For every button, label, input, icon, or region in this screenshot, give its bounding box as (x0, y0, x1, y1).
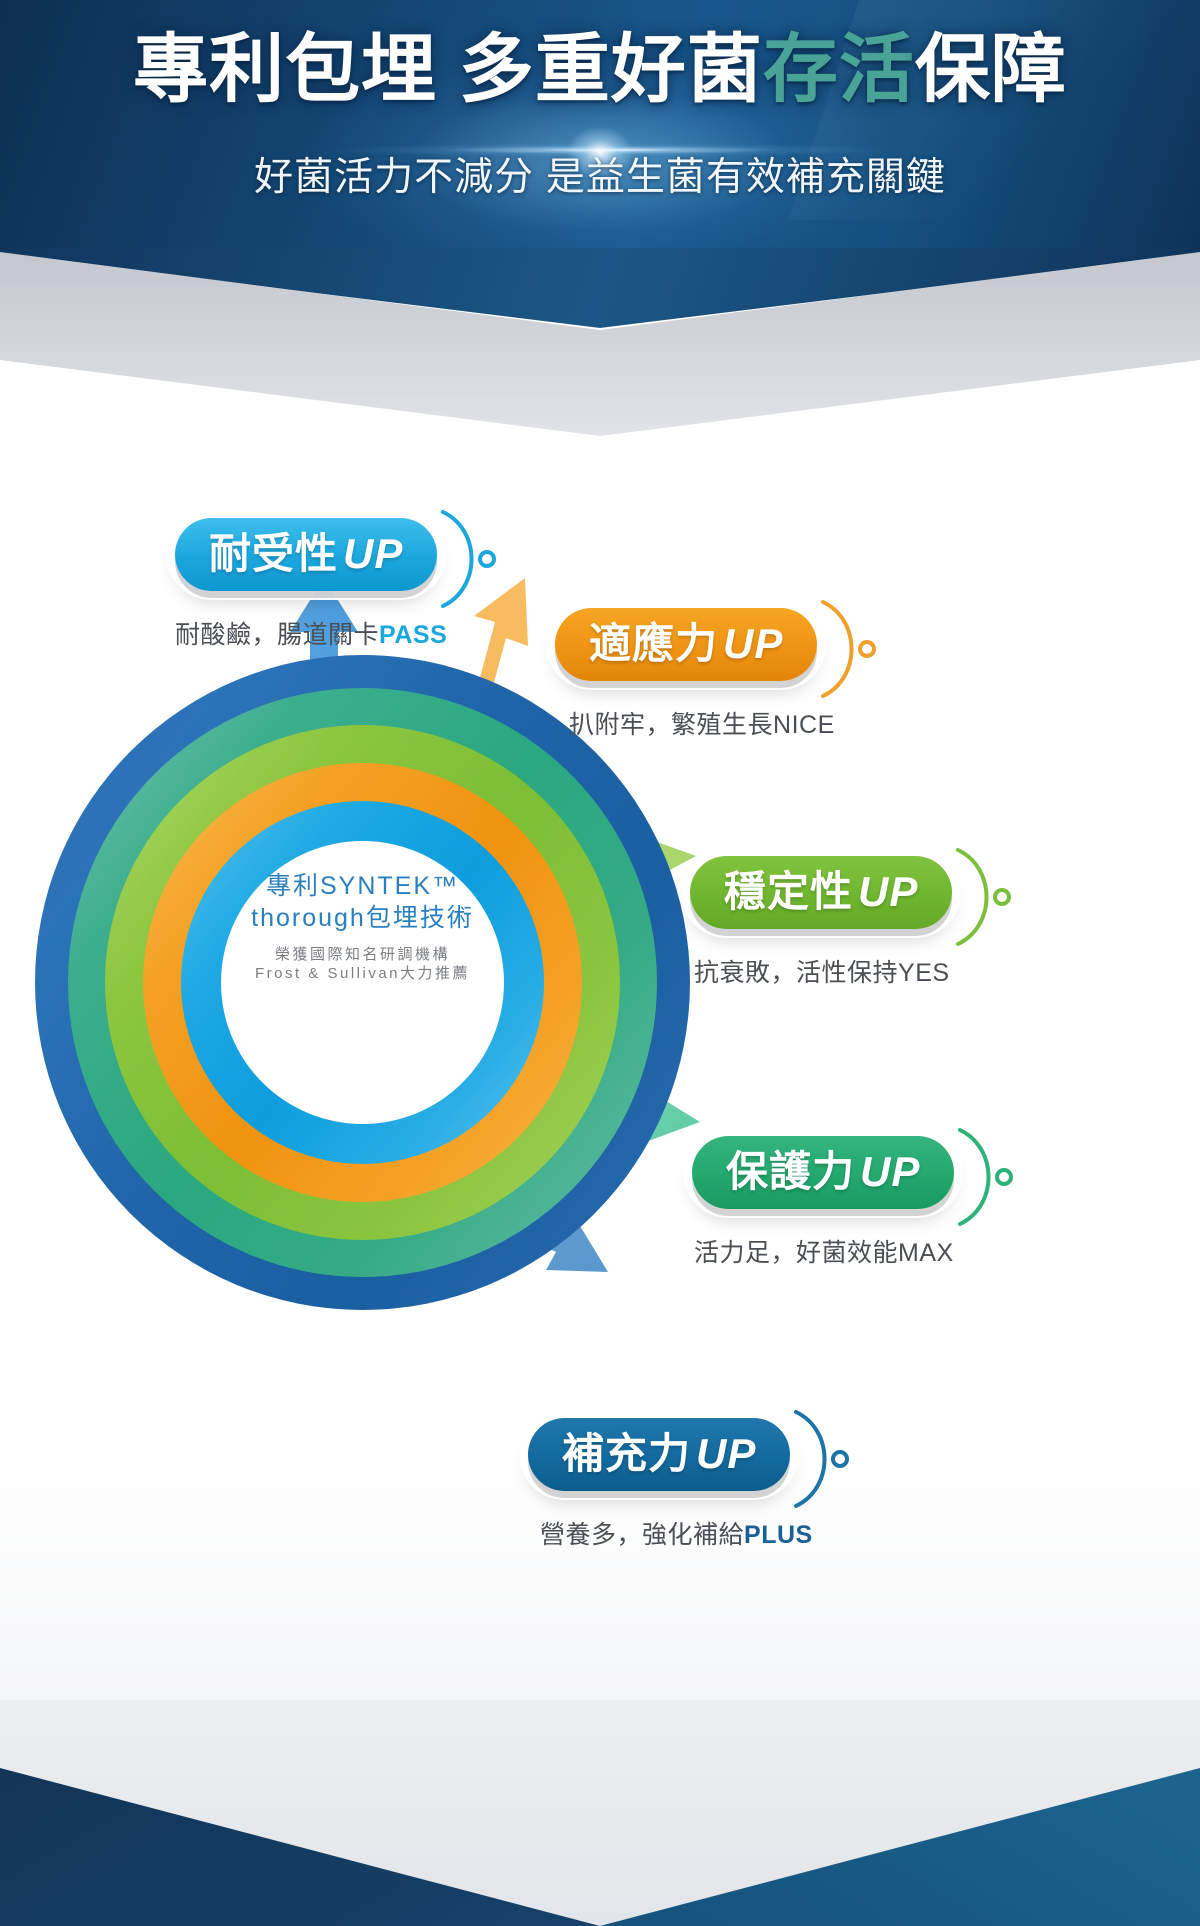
footer-chevron (0, 1700, 1200, 1926)
caption-adaptability: 扒附牢，繁殖生長NICE (569, 705, 835, 741)
badge-stability[interactable]: 穩定性UP (690, 856, 952, 929)
caption-protection: 活力足，好菌效能MAX (694, 1233, 954, 1269)
badge-protection-label: 保護力 (726, 1148, 855, 1195)
caption-protection-text: 活力足，好菌效能 (694, 1239, 898, 1267)
badge-tolerance-label: 耐受性 (209, 530, 338, 577)
hook-bracket-supplement (790, 1404, 860, 1514)
badge-supplement-label: 補充力 (562, 1430, 691, 1477)
badge-adaptability-up: UP (718, 620, 783, 667)
page-title: 專利包埋 多重好菌存活保障 (0, 32, 1200, 107)
benefit-protection[interactable]: 保護力UP 活力足，好菌效能MAX (692, 1136, 954, 1269)
hook-bracket-protection (954, 1122, 1024, 1232)
badge-supplement[interactable]: 補充力UP (528, 1418, 790, 1491)
center-line-2: thorough包埋技術 (221, 902, 504, 934)
footer-chevron-left (0, 1700, 600, 1926)
badge-protection[interactable]: 保護力UP (692, 1136, 954, 1209)
benefit-stability[interactable]: 穩定性UP 抗衰敗，活性保持YES (690, 856, 952, 989)
caption-adaptability-highlight: NICE (773, 711, 835, 739)
badge-adaptability[interactable]: 適應力UP (555, 608, 817, 681)
center-label-block: 專利SYNTEK™ thorough包埋技術 榮獲國際知名研調機構 Frost … (221, 870, 504, 983)
page-subtitle: 好菌活力不減分 是益生菌有效補充關鍵 (0, 146, 1200, 202)
benefit-tolerance[interactable]: 耐受性UP 耐酸鹼，腸道關卡PASS (175, 518, 447, 651)
title-segment-3: 保障 (915, 27, 1067, 111)
footer-chevron-right (600, 1700, 1200, 1926)
caption-adaptability-text: 扒附牢，繁殖生長 (569, 711, 773, 739)
benefit-adaptability[interactable]: 適應力UP 扒附牢，繁殖生長NICE (555, 608, 835, 741)
center-line-4: Frost & Sullivan大力推薦 (221, 964, 504, 983)
badge-tolerance[interactable]: 耐受性UP (175, 518, 437, 591)
hook-bracket-tolerance (437, 504, 507, 614)
title-segment-accent: 存活 (763, 27, 915, 111)
caption-tolerance-text: 耐酸鹼，腸道關卡 (175, 621, 379, 649)
badge-stability-label: 穩定性 (724, 868, 853, 915)
badge-adaptability-label: 適應力 (589, 620, 718, 667)
caption-tolerance-highlight: PASS (379, 621, 447, 649)
caption-stability: 抗衰敗，活性保持YES (694, 953, 952, 989)
caption-tolerance: 耐酸鹼，腸道關卡PASS (175, 615, 447, 651)
caption-protection-highlight: MAX (898, 1239, 954, 1267)
caption-stability-text: 抗衰敗，活性保持 (694, 959, 898, 987)
caption-supplement-text: 營養多，強化補給 (540, 1521, 744, 1549)
badge-tolerance-up: UP (338, 530, 403, 577)
header-banner: 專利包埋 多重好菌存活保障 好菌活力不減分 是益生菌有效補充關鍵 (0, 0, 1200, 268)
center-line-3: 榮獲國際知名研調機構 (221, 945, 504, 964)
badge-stability-up: UP (853, 868, 918, 915)
caption-supplement-highlight: PLUS (744, 1521, 813, 1549)
title-segment-1: 專利包埋 多重好菌 (133, 27, 763, 111)
center-line-1: 專利SYNTEK™ (221, 870, 504, 902)
concentric-rings-diagram: 專利SYNTEK™ thorough包埋技術 榮獲國際知名研調機構 Frost … (35, 655, 690, 1310)
benefit-supplement[interactable]: 補充力UP 營養多，強化補給PLUS (528, 1418, 813, 1551)
hook-bracket-adaptability (817, 594, 887, 704)
hook-bracket-stability (952, 842, 1022, 952)
badge-supplement-up: UP (691, 1430, 756, 1477)
badge-protection-up: UP (855, 1148, 920, 1195)
caption-supplement: 營養多，強化補給PLUS (540, 1515, 813, 1551)
caption-stability-highlight: YES (898, 959, 950, 987)
